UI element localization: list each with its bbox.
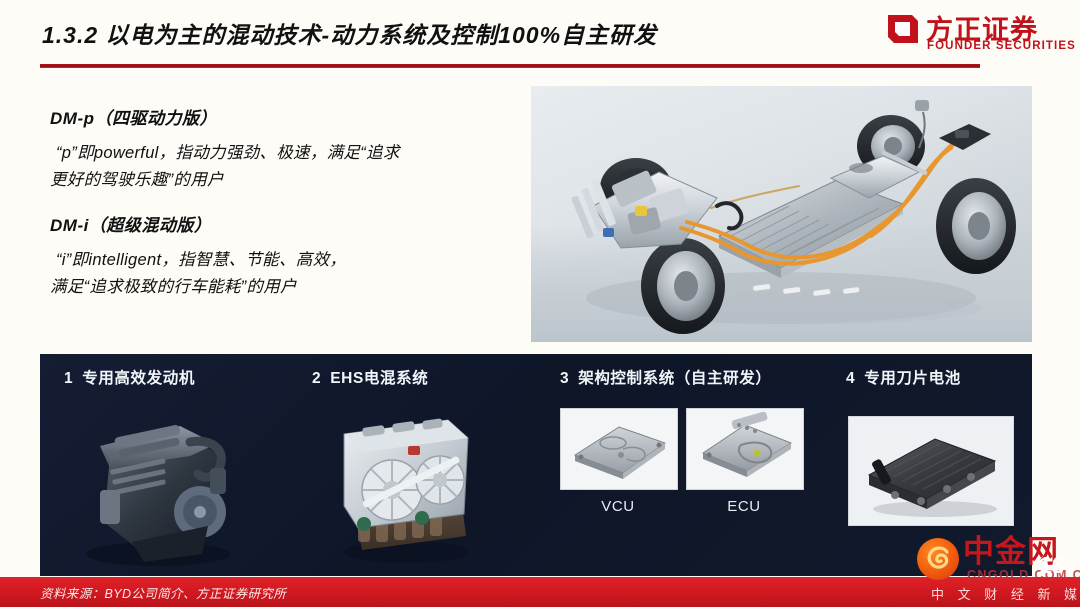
component-panel-strip: 1 专用高效发动机 bbox=[40, 354, 1032, 576]
dmi-line-1: “i”即intelligent，指智慧、节能、高效， bbox=[50, 247, 520, 274]
panel-engine-number: 1 bbox=[64, 370, 73, 388]
dmi-heading: DM-i（超级混动版） bbox=[50, 211, 520, 236]
description-text-block: DM-p（四驱动力版） “p”即powerful，指动力强劲、极速，满足“追求 … bbox=[50, 104, 520, 301]
panel-ehs-system: 2 EHS电混系统 bbox=[288, 354, 536, 576]
dmi-line-2: 满足“追求极致的行车能耗”的用户 bbox=[50, 274, 520, 301]
vcu-module-photo bbox=[560, 408, 678, 490]
chassis-photo: 1 2 3 4 bbox=[531, 86, 1032, 342]
panel-engine-art bbox=[40, 394, 288, 572]
panel-engine-label: 专用高效发动机 bbox=[82, 366, 195, 388]
page-number: 16 bbox=[1039, 552, 1065, 579]
panel-ehs-art bbox=[288, 394, 536, 572]
page-title: 1.3.2 以电为主的混动技术-动力系统及控制100%自主研发 bbox=[42, 16, 657, 50]
panel-engine-header: 1 专用高效发动机 bbox=[64, 366, 195, 388]
dmp-heading: DM-p（四驱动力版） bbox=[50, 104, 520, 129]
slide-canvas: 1.3.2 以电为主的混动技术-动力系统及控制100%自主研发 方正证券 FOU… bbox=[0, 0, 1080, 607]
panel-control-label: 架构控制系统（自主研发） bbox=[578, 366, 771, 388]
panel-control-system: 3 架构控制系统（自主研发） bbox=[536, 354, 826, 576]
panel-control-header: 3 架构控制系统（自主研发） bbox=[560, 366, 771, 388]
dmp-line-2: 更好的驾驶乐趣”的用户 bbox=[50, 167, 520, 194]
panel-battery-label: 专用刀片电池 bbox=[864, 366, 961, 388]
vcu-caption: VCU bbox=[560, 498, 676, 515]
cngold-tagline: 中 文 财 经 新 媒 体 bbox=[931, 584, 1080, 603]
company-logo: 方正证券 FOUNDER SECURITIES bbox=[886, 8, 1066, 60]
panel-engine: 1 专用高效发动机 bbox=[40, 354, 288, 576]
ecu-module-photo bbox=[686, 408, 804, 490]
panel-ehs-number: 2 bbox=[312, 370, 321, 388]
logo-english-name: FOUNDER SECURITIES bbox=[927, 40, 1076, 52]
ecu-caption: ECU bbox=[686, 498, 802, 515]
title-underline-rule bbox=[40, 64, 980, 68]
panel-battery-header: 4 专用刀片电池 bbox=[846, 366, 961, 388]
panel-ehs-header: 2 EHS电混系统 bbox=[312, 366, 428, 388]
source-note: 资料来源：BYD公司简介、方正证券研究所 bbox=[40, 583, 286, 602]
panel-battery-number: 4 bbox=[846, 370, 855, 388]
founder-square-logo-icon bbox=[886, 12, 920, 46]
panel-control-number: 3 bbox=[560, 370, 569, 388]
cngold-swirl-icon bbox=[917, 538, 959, 580]
dmp-line-1: “p”即powerful，指动力强劲、极速，满足“追求 bbox=[50, 140, 520, 167]
chassis-illustration bbox=[531, 86, 1032, 342]
blade-battery-photo bbox=[848, 416, 1014, 526]
panel-control-art: VCU ECU bbox=[536, 394, 826, 572]
panel-ehs-label: EHS电混系统 bbox=[330, 366, 428, 388]
